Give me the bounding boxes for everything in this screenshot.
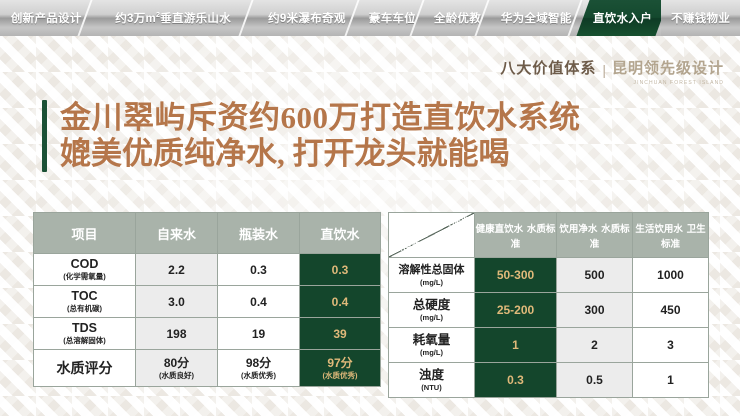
table-left-cell-3-2-sub: (水质优秀) (300, 371, 380, 380)
nav-tab-3[interactable]: 豪车车位 (360, 0, 425, 36)
table-left-cell-3-0: 80分 (水质良好) (136, 350, 218, 387)
table-row: 浊度 (NTU) 0.3 0.5 1 (389, 363, 709, 398)
table-right-item-3: 浊度 (NTU) (389, 363, 475, 398)
nav-tab-6-active[interactable]: 直饮水入户 (576, 0, 668, 36)
table-left-header-3: 直饮水 (300, 213, 381, 254)
nav-tab-7-label: 不赚钱物业 (671, 10, 730, 26)
table-right-header-row: 水质标准 项目限值 健康直饮水 水质标准 饮用净水 水质标准 生活饮用水 卫生标… (389, 213, 709, 258)
table-left-cell-3-0-sub: (水质良好) (136, 371, 217, 380)
nav-tab-7[interactable]: 不赚钱物业 (661, 0, 740, 36)
table-row: 水质评分 80分 (水质良好) 98分 (水质优秀) 97分 (水质优秀) (34, 350, 381, 387)
table-right-cell-1-2: 450 (633, 293, 709, 328)
table-right-header-1-line1: 饮用净水 (559, 224, 597, 235)
water-standard-table: 水质标准 项目限值 健康直饮水 水质标准 饮用净水 水质标准 生活饮用水 卫生标… (388, 212, 709, 398)
nav-tab-4-label: 全龄优教 (434, 10, 481, 26)
corner-header-bottom-left: 项目限值 (393, 242, 431, 253)
headline-block: 金川翠屿斥资约600万打造直饮水系统 媲美优质纯净水, 打开龙头就能喝 (42, 100, 581, 172)
table-right-header-0-line1: 健康直饮水 (476, 224, 524, 235)
nav-tab-2[interactable]: 约9米瀑布奇观 (254, 0, 360, 36)
table-right-item-3-name: 浊度 (389, 369, 474, 382)
table-right-item-1-sub: (mg/L) (389, 313, 474, 322)
table-left-header-2: 瓶装水 (218, 213, 300, 254)
table-row: 溶解性总固体 (mg/L) 50-300 500 1000 (389, 258, 709, 293)
table-row: 耗氧量 (mg/L) 1 2 3 (389, 328, 709, 363)
brand-separator: | (602, 63, 606, 77)
table-left-cell-0-1: 0.3 (218, 254, 300, 286)
table-right-cell-2-1: 2 (557, 328, 633, 363)
table-left-item-3-name: 水质评分 (34, 362, 135, 375)
nav-tab-4[interactable]: 全龄优教 (425, 0, 490, 36)
table-right-cell-0-2: 1000 (633, 258, 709, 293)
nav-tab-5-label: 华为全域智能 (501, 10, 572, 26)
table-left-header-row: 项目 自来水 瓶装水 直饮水 (34, 213, 381, 254)
headline-accent-bar (42, 100, 47, 172)
table-right-corner-header: 水质标准 项目限值 (389, 213, 475, 258)
table-right-cell-3-1: 0.5 (557, 363, 633, 398)
table-left-item-0: COD (化学需氧量) (34, 254, 136, 286)
water-comparison-table: 项目 自来水 瓶装水 直饮水 COD (化学需氧量) 2.2 0.3 0.3 T… (33, 212, 381, 387)
table-right-cell-2-0: 1 (475, 328, 557, 363)
table-right-header-2-line1: 生活饮用水 (635, 224, 683, 235)
table-left-cell-3-2: 97分 (水质优秀) (300, 350, 381, 387)
table-right-cell-2-2: 3 (633, 328, 709, 363)
nav-tab-5[interactable]: 华为全域智能 (490, 0, 583, 36)
headline-line-2: 媲美优质纯净水, 打开龙头就能喝 (60, 136, 581, 172)
corner-header-top-right: 水质标准 (432, 217, 470, 228)
table-right-item-3-sub: (NTU) (389, 383, 474, 392)
table-left-item-2-name: TDS (34, 322, 135, 335)
table-left-item-1-sub: (总有机碳) (34, 304, 135, 313)
table-right-item-0-name: 溶解性总固体 (389, 264, 474, 277)
table-left-item-3: 水质评分 (34, 350, 136, 387)
table-left-cell-3-2-value: 97分 (300, 357, 380, 370)
brand-main-text: 八大价值体系 (500, 62, 596, 77)
table-row: TOC (总有机碳) 3.0 0.4 0.4 (34, 286, 381, 318)
table-left-item-2-sub: (总溶解固体) (34, 336, 135, 345)
table-left-cell-2-2: 39 (300, 318, 381, 350)
table-right-cell-1-0: 25-200 (475, 293, 557, 328)
table-left-cell-2-1: 19 (218, 318, 300, 350)
table-right-cell-1-1: 300 (557, 293, 633, 328)
headline-text: 金川翠屿斥资约600万打造直饮水系统 媲美优质纯净水, 打开龙头就能喝 (60, 100, 581, 172)
table-right-header-0: 健康直饮水 水质标准 (475, 213, 557, 258)
table-left-cell-2-0: 198 (136, 318, 218, 350)
nav-tab-3-label: 豪车车位 (369, 10, 416, 26)
table-right-cell-0-0: 50-300 (475, 258, 557, 293)
table-left-header-1: 自来水 (136, 213, 218, 254)
table-left-cell-1-1: 0.4 (218, 286, 300, 318)
table-row: 总硬度 (mg/L) 25-200 300 450 (389, 293, 709, 328)
table-row: COD (化学需氧量) 2.2 0.3 0.3 (34, 254, 381, 286)
table-right-item-1: 总硬度 (mg/L) (389, 293, 475, 328)
table-right-cell-3-2: 1 (633, 363, 709, 398)
table-right-cell-3-0: 0.3 (475, 363, 557, 398)
table-right-header-2: 生活饮用水 卫生标准 (633, 213, 709, 258)
table-left-cell-1-2: 0.4 (300, 286, 381, 318)
table-left-cell-0-2: 0.3 (300, 254, 381, 286)
nav-tab-2-label: 约9米瀑布奇观 (268, 10, 346, 26)
table-right-item-2-sub: (mg/L) (389, 348, 474, 357)
table-right-header-1: 饮用净水 水质标准 (557, 213, 633, 258)
table-left-cell-3-1-sub: (水质优秀) (218, 371, 299, 380)
table-right-cell-0-1: 500 (557, 258, 633, 293)
table-left-item-1: TOC (总有机碳) (34, 286, 136, 318)
brand-sub-text: 昆明领先级设计 (612, 62, 724, 77)
nav-tab-1[interactable]: 约3万m2垂直游乐山水 (93, 0, 254, 36)
nav-tab-1-label: 约3万m2垂直游乐山水 (115, 10, 231, 26)
nav-tab-6-label: 直饮水入户 (592, 10, 651, 26)
table-left-header-0: 项目 (34, 213, 136, 254)
nav-tab-0[interactable]: 创新产品设计 (0, 0, 93, 36)
brand-mark: 八大价值体系 | 昆明领先级设计 JINCHUAN FOREST ISLAND (500, 62, 724, 86)
table-right-item-1-name: 总硬度 (389, 299, 474, 312)
table-row: TDS (总溶解固体) 198 19 39 (34, 318, 381, 350)
table-right-item-0-sub: (mg/L) (389, 278, 474, 287)
table-right-item-0: 溶解性总固体 (mg/L) (389, 258, 475, 293)
table-left-cell-3-1: 98分 (水质优秀) (218, 350, 300, 387)
table-left-cell-1-0: 3.0 (136, 286, 218, 318)
nav-tab-0-label: 创新产品设计 (11, 10, 82, 26)
table-left-item-1-name: TOC (34, 290, 135, 303)
table-left-cell-3-1-value: 98分 (218, 357, 299, 370)
table-left-cell-3-0-value: 80分 (136, 357, 217, 370)
table-left-cell-0-0: 2.2 (136, 254, 218, 286)
table-left-item-0-name: COD (34, 258, 135, 271)
brand-english-text: JINCHUAN FOREST ISLAND (500, 81, 724, 86)
table-left-item-2: TDS (总溶解固体) (34, 318, 136, 350)
table-right-item-2: 耗氧量 (mg/L) (389, 328, 475, 363)
headline-line-1: 金川翠屿斥资约600万打造直饮水系统 (60, 100, 581, 136)
table-right-item-2-name: 耗氧量 (389, 334, 474, 347)
table-left-item-0-sub: (化学需氧量) (34, 272, 135, 281)
top-navigation-bar: 创新产品设计 约3万m2垂直游乐山水 约9米瀑布奇观 豪车车位 全龄优教 华为全… (0, 0, 740, 36)
